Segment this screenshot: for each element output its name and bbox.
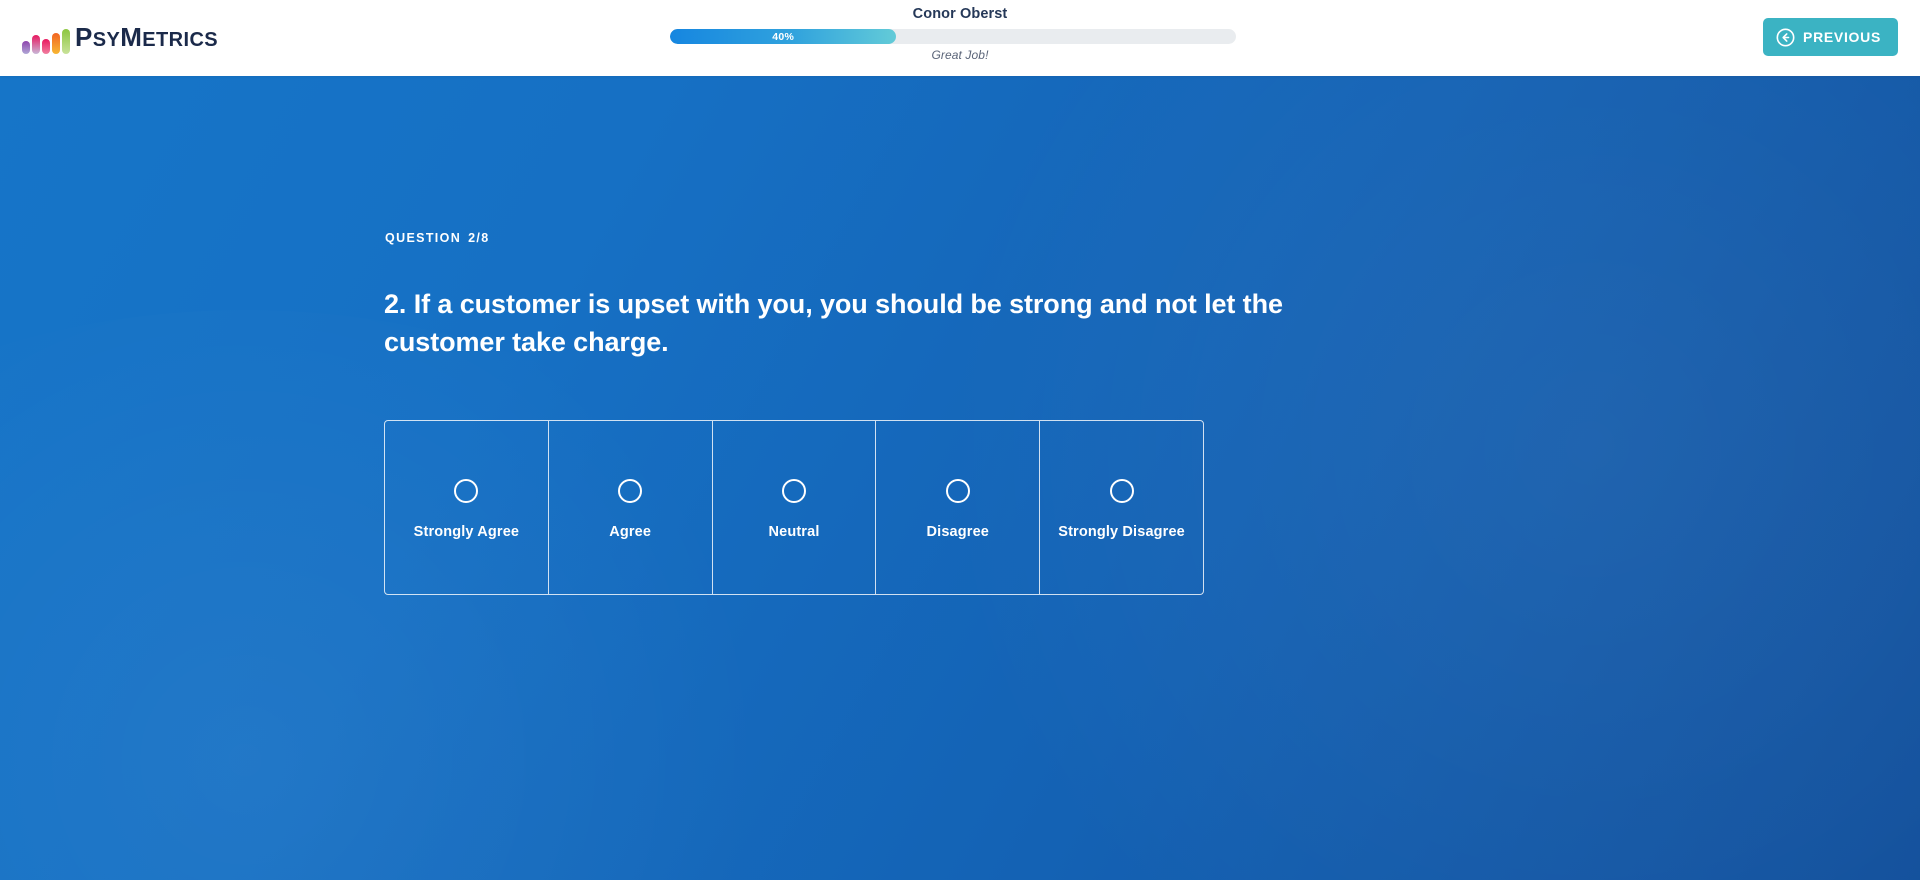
answer-option-strongly-disagree[interactable]: Strongly Disagree (1040, 421, 1203, 594)
logo-letter-p: P (75, 22, 93, 52)
answer-option-disagree[interactable]: Disagree (876, 421, 1040, 594)
question-counter-label: QUESTION (385, 231, 461, 245)
answer-option-neutral[interactable]: Neutral (713, 421, 877, 594)
question-text: 2. If a customer is upset with you, you … (384, 285, 1309, 362)
answer-option-label: Neutral (768, 524, 819, 540)
radio-icon[interactable] (618, 479, 642, 503)
question-counter-value: 2/8 (468, 231, 489, 245)
quiz-stage: QUESTION2/8 2. If a customer is upset wi… (0, 76, 1920, 880)
answer-option-strongly-agree[interactable]: Strongly Agree (385, 421, 549, 594)
answer-option-label: Agree (609, 524, 651, 540)
progress-percent-label: 40% (772, 31, 794, 43)
previous-button-label: PREVIOUS (1803, 29, 1881, 45)
answer-option-label: Strongly Agree (414, 524, 520, 540)
radio-icon[interactable] (454, 479, 478, 503)
user-name: Conor Oberst (670, 5, 1250, 23)
answer-options-group: Strongly AgreeAgreeNeutralDisagreeStrong… (384, 420, 1204, 595)
logo-letters-etrics: ETRICS (142, 29, 218, 51)
progress-caption: Great Job! (670, 48, 1250, 62)
progress-block: Conor Oberst 40% Great Job! (670, 0, 1250, 62)
app-header: PSYMETRICS Conor Oberst 40% Great Job! P… (0, 0, 1920, 76)
psymetrics-logo[interactable]: PSYMETRICS (22, 21, 218, 55)
logo-pills-icon (22, 29, 70, 55)
logo-letters-sy: SY (93, 29, 120, 51)
assessment-app: PSYMETRICS Conor Oberst 40% Great Job! P… (0, 0, 1920, 880)
previous-button[interactable]: PREVIOUS (1763, 18, 1898, 56)
progress-bar-track: 40% (670, 29, 1236, 44)
answer-option-label: Disagree (927, 524, 989, 540)
radio-icon[interactable] (782, 479, 806, 503)
radio-icon[interactable] (1110, 479, 1134, 503)
progress-bar-fill: 40% (670, 29, 896, 44)
logo-letter-m: M (120, 22, 142, 52)
question-counter: QUESTION2/8 (385, 231, 1536, 245)
quiz-content: QUESTION2/8 2. If a customer is upset wi… (384, 76, 1536, 595)
answer-option-label: Strongly Disagree (1058, 524, 1185, 540)
answer-option-agree[interactable]: Agree (549, 421, 713, 594)
arrow-circle-left-icon (1776, 28, 1795, 47)
radio-icon[interactable] (946, 479, 970, 503)
logo-wordmark: PSYMETRICS (75, 22, 218, 55)
